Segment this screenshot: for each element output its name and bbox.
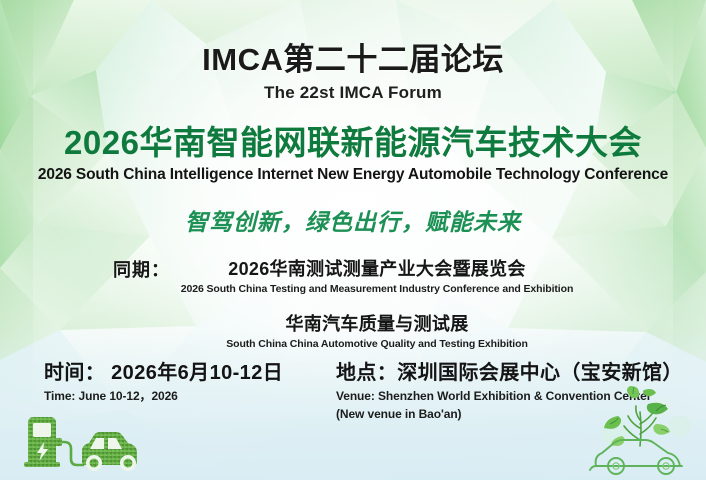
main-title-cn: 2026华南智能网联新能源汽车技术大会: [0, 125, 706, 161]
concurrent-label: 同期：: [113, 261, 170, 279]
concurrent-events-section: 同期： 2026华南测试测量产业大会暨展览会 2026 South China …: [0, 258, 706, 351]
event-date-en: Time: June 10-12，2026: [44, 388, 283, 405]
ev-charging-station-icon: [14, 412, 144, 474]
forum-title-cn: IMCA第二十二届论坛: [0, 44, 706, 75]
event-venue-cn: 地点：深圳国际会展中心（宝安新馆）: [336, 362, 683, 385]
conference-poster: IMCA第二十二届论坛 The 22st IMCA Forum 2026华南智能…: [0, 0, 706, 480]
slogan: 智驾创新，绿色出行，赋能未来: [0, 211, 706, 234]
concurrent-event-2-en: South China China Automotive Quality and…: [48, 338, 706, 352]
forum-title-en: The 22st IMCA Forum: [0, 84, 706, 101]
concurrent-event-1-en: 2026 South China Testing and Measurement…: [48, 283, 706, 297]
concurrent-event-2: 华南汽车质量与测试展 South China China Automotive …: [48, 313, 706, 351]
eco-car-leaves-icon: [588, 386, 700, 478]
main-title-en: 2026 South China Intelligence Internet N…: [0, 167, 706, 183]
event-date-cn: 时间： 2026年6月10-12日: [44, 362, 283, 385]
event-date-block: 时间： 2026年6月10-12日 Time: June 10-12，2026: [44, 362, 283, 405]
concurrent-event-2-cn: 华南汽车质量与测试展: [48, 313, 706, 336]
